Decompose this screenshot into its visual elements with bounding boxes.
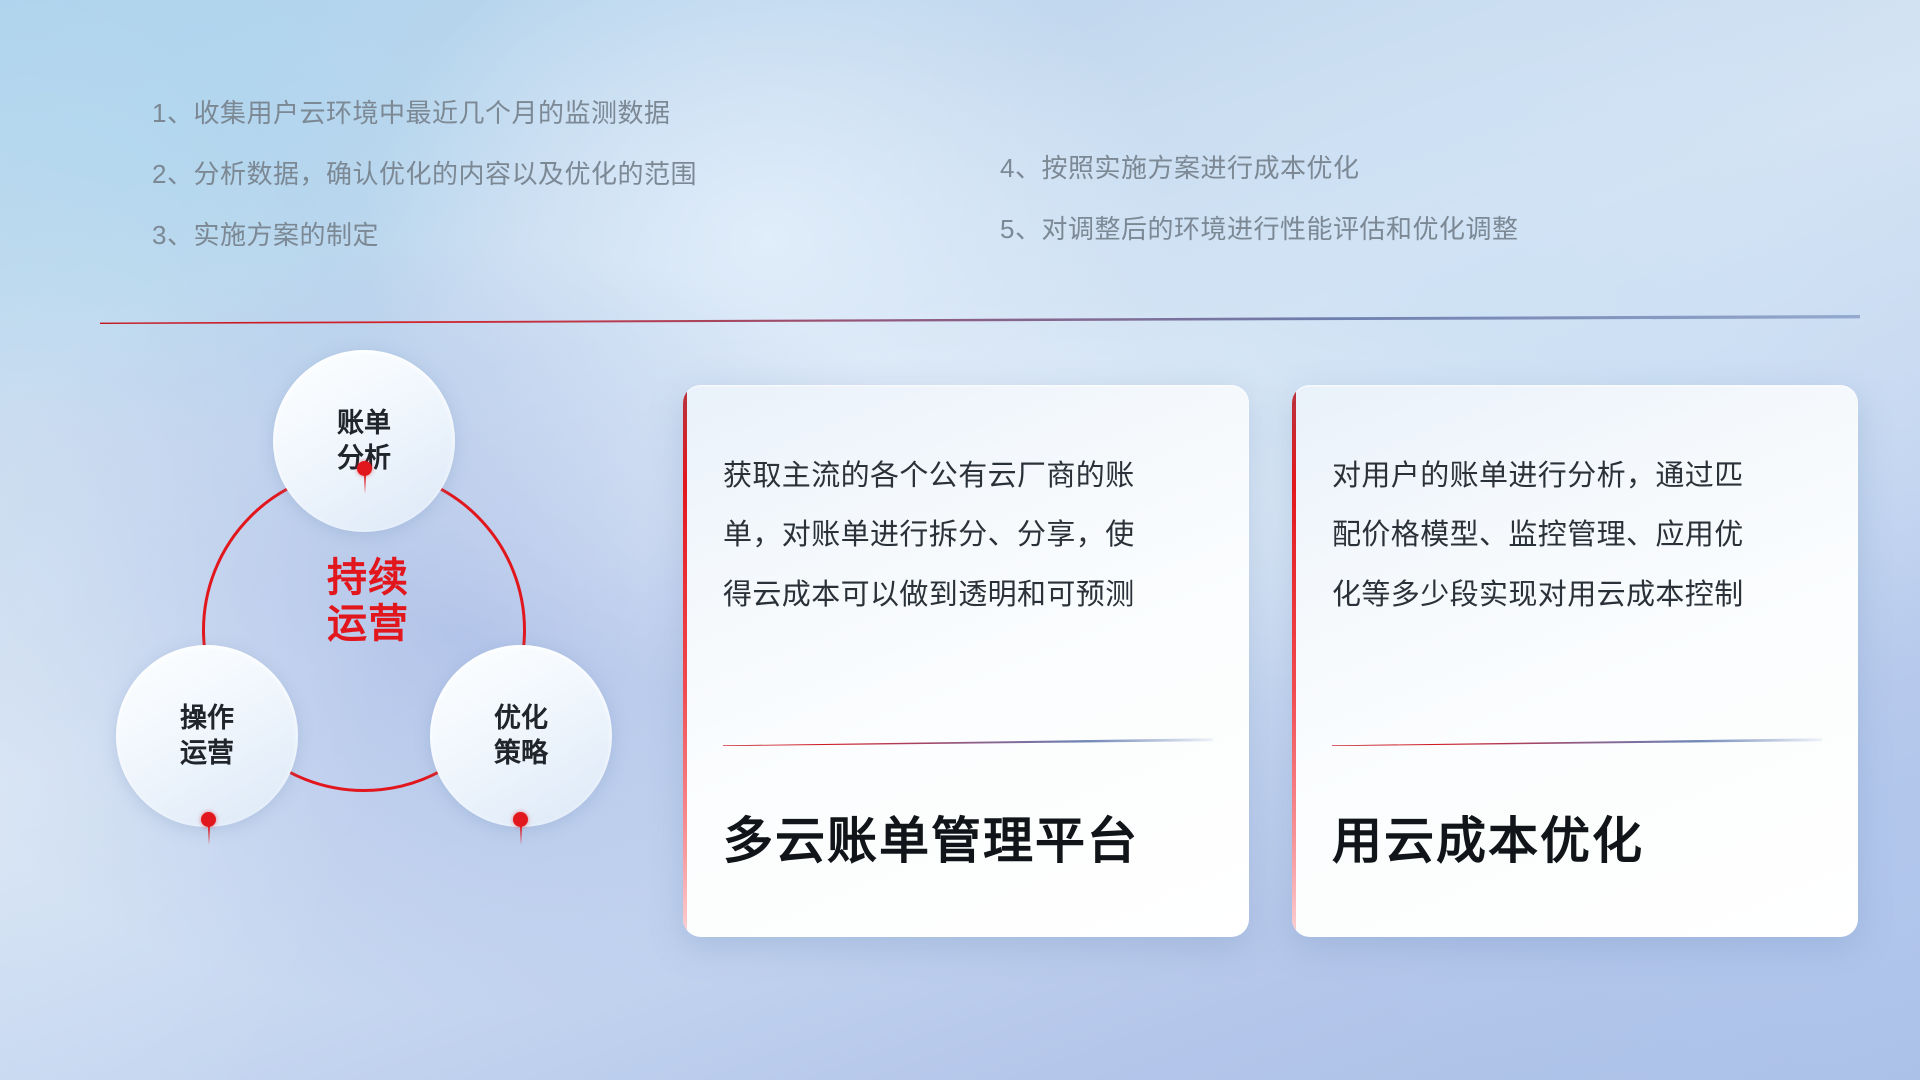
- card-body-text: 获取主流的各个公有云厂商的账 单，对账单进行拆分、分享，使 得云成本可以做到透明…: [723, 447, 1213, 625]
- card-body-line: 配价格模型、监控管理、应用优: [1332, 506, 1822, 565]
- card-multi-cloud-bill-platform[interactable]: 获取主流的各个公有云厂商的账 单，对账单进行拆分、分享，使 得云成本可以做到透明…: [683, 385, 1249, 937]
- steps-right-column: 4、按照实施方案进行成本优化 5、对调整后的环境进行性能评估和优化调整: [1000, 155, 1518, 277]
- step-item: 1、收集用户云环境中最近几个月的监测数据: [152, 100, 697, 126]
- section-divider: [100, 315, 1860, 324]
- venn-marker-dot: [201, 812, 216, 827]
- venn-marker-tail: [364, 474, 366, 494]
- venn-bubble-optimization-strategy[interactable]: 优化 策略: [430, 645, 612, 827]
- venn-center-label: 持续 运营: [278, 555, 458, 648]
- venn-bubble-label-line1: 账单: [337, 406, 391, 441]
- card-body-line: 单，对账单进行拆分、分享，使: [723, 506, 1213, 565]
- step-item: 3、实施方案的制定: [152, 222, 697, 248]
- card-divider: [723, 737, 1213, 746]
- venn-bubble-label-line2: 运营: [180, 736, 234, 771]
- card-accent-edge: [1292, 385, 1296, 937]
- card-accent-edge: [683, 385, 687, 937]
- venn-bubble-label-line1: 操作: [180, 701, 234, 736]
- venn-center-label-line2: 运营: [278, 601, 458, 647]
- venn-bubble-label-line2: 策略: [494, 736, 548, 771]
- step-item: 5、对调整后的环境进行性能评估和优化调整: [1000, 216, 1518, 242]
- steps-left-column: 1、收集用户云环境中最近几个月的监测数据 2、分析数据，确认优化的内容以及优化的…: [152, 100, 697, 283]
- step-item: 4、按照实施方案进行成本优化: [1000, 155, 1518, 181]
- venn-bubble-operations[interactable]: 操作 运营: [116, 645, 298, 827]
- venn-marker-dot: [513, 812, 528, 827]
- venn-bubble-label-line1: 优化: [494, 701, 548, 736]
- card-title: 用云成本优化: [1332, 801, 1822, 873]
- card-body-text: 对用户的账单进行分析，通过匹 配价格模型、监控管理、应用优 化等多少段实现对用云…: [1332, 447, 1822, 625]
- venn-marker-tail: [208, 825, 210, 845]
- card-title: 多云账单管理平台: [723, 801, 1213, 873]
- step-item: 2、分析数据，确认优化的内容以及优化的范围: [152, 161, 697, 187]
- continuous-operations-venn: 账单 分析 操作 运营 优化 策略 持续 运营: [100, 350, 630, 950]
- venn-bubble-bill-analysis[interactable]: 账单 分析: [273, 350, 455, 532]
- venn-center-label-line1: 持续: [278, 555, 458, 601]
- venn-marker-tail: [520, 825, 522, 845]
- card-body-line: 对用户的账单进行分析，通过匹: [1332, 447, 1822, 506]
- card-divider: [1332, 737, 1822, 746]
- venn-marker-dot: [357, 461, 372, 476]
- card-body-line: 化等多少段实现对用云成本控制: [1332, 566, 1822, 625]
- card-body-line: 获取主流的各个公有云厂商的账: [723, 447, 1213, 506]
- card-cloud-cost-optimization[interactable]: 对用户的账单进行分析，通过匹 配价格模型、监控管理、应用优 化等多少段实现对用云…: [1292, 385, 1858, 937]
- card-body-line: 得云成本可以做到透明和可预测: [723, 566, 1213, 625]
